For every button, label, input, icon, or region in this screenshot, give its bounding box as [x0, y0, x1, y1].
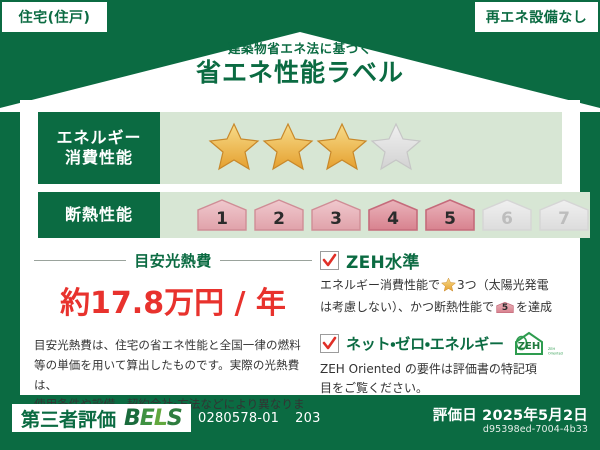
document-hash: d95398ed-7004-4b33 [483, 424, 588, 435]
bels-wordmark: BELS [124, 406, 182, 431]
insulation-level-number: 6 [481, 209, 533, 229]
svg-text:ZEH: ZEH [518, 341, 540, 352]
insulation-level-number: 5 [424, 209, 476, 229]
insulation-level-2: 2 [253, 198, 305, 232]
label-lower-section: 目安光熱費 約17.8万円 / 年 目安光熱費は、住宅の省エネ性能と全国一律の燃… [20, 248, 580, 388]
criteria-zeh-standard-desc: エネルギー消費性能で3つ（太陽光発電 は考慮しない）、かつ断熱性能で5を達成 [320, 276, 572, 318]
unit-number: 203 [295, 411, 320, 426]
utility-cost-section: 目安光熱費 約17.8万円 / 年 目安光熱費は、住宅の省エネ性能と全国一律の燃… [20, 248, 320, 388]
criteria-net-zero-energy: ネット・ゼロ・エネルギー ZEH ZEH Oriented [320, 331, 580, 357]
energy-performance-row: エネルギー 消費性能 [38, 112, 562, 184]
star-icon-2 [262, 121, 314, 175]
utility-cost-value: 約17.8万円 / 年 [34, 278, 312, 322]
star-icon-4-off [370, 121, 422, 175]
criteria-net-zero-energy-title: ネット・ゼロ・エネルギー [346, 333, 504, 354]
insulation-performance-row: 断熱性能 1 2 3 [38, 192, 562, 238]
badge-renewable-energy: 再エネ設備なし [475, 2, 598, 32]
utility-cost-heading: 目安光熱費 [34, 250, 312, 271]
criteria-net-zero-energy-desc: ZEH Oriented の要件は評価書の特記項 目をご覧ください。 [320, 360, 572, 399]
criteria-desc-pre: エネルギー消費性能で [320, 278, 440, 292]
label-main-panel: エネルギー 消費性能 [20, 100, 580, 395]
energy-performance-value [160, 112, 562, 184]
label-header-roof: 住宅(住戸) 再エネ設備なし 建築物省エネ法に基づく 省エネ性能ラベル [0, 0, 600, 112]
evaluation-date-value: 2025年5月2日 [482, 408, 588, 424]
svg-text:ZEH: ZEH [548, 347, 555, 351]
insulation-level-5: 5 [424, 198, 476, 232]
criteria-section: ZEH水準 エネルギー消費性能で3つ（太陽光発電 は考慮しない）、かつ断熱性能で… [320, 248, 580, 388]
criteria-desc-mid: 3つ（太陽光発電 [457, 278, 549, 292]
insulation-level-number: 2 [253, 209, 305, 229]
checkbox-checked-icon [320, 251, 339, 270]
checkbox-checked-icon [320, 334, 339, 353]
insulation-level-3: 3 [310, 198, 362, 232]
insulation-level-number: 1 [196, 209, 248, 229]
criteria-net-zero-desc-line2: 目をご覧ください。 [320, 379, 572, 398]
insulation-level-scale: 1 2 3 4 [196, 198, 590, 232]
third-party-evaluation-text: 第三者評価 [21, 405, 116, 432]
insulation-level-number: 4 [367, 209, 419, 229]
insulation-level-number: 3 [310, 209, 362, 229]
criteria-desc-line2-pre: は考慮しない）、かつ断熱性能で [320, 300, 494, 314]
criteria-zeh-standard-title: ZEH水準 [346, 248, 420, 273]
insulation-level-7: 7 [538, 198, 590, 232]
energy-performance-label: 住宅(住戸) 再エネ設備なし 建築物省エネ法に基づく 省エネ性能ラベル エネルギ… [0, 0, 600, 450]
heading-rule-left [34, 260, 126, 261]
evaluation-date-label: 評価日 [433, 408, 477, 424]
label-footer: 第三者評価 BELS 0280578-01203 評価日 2025年5月2日 d… [0, 398, 600, 450]
criteria-net-zero-desc-line1: ZEH Oriented の要件は評価書の特記項 [320, 360, 572, 379]
star-icon-1 [208, 121, 260, 175]
energy-label-line1: エネルギー [56, 128, 141, 148]
house-icon-inline-number: 5 [496, 301, 514, 316]
house-icon-inline: 5 [496, 300, 514, 315]
utility-cost-heading-text: 目安光熱費 [134, 250, 212, 271]
insulation-level-6: 6 [481, 198, 533, 232]
criteria-zeh-standard: ZEH水準 [320, 248, 580, 273]
svg-text:Oriented: Oriented [548, 351, 563, 355]
criteria-desc-line2-post: を達成 [516, 300, 552, 314]
insulation-performance-value: 1 2 3 4 [160, 192, 590, 238]
evaluation-date: 評価日 2025年5月2日 [433, 404, 588, 425]
zeh-oriented-logo-icon: ZEH ZEH Oriented [512, 331, 564, 357]
insulation-performance-label: 断熱性能 [38, 192, 160, 238]
utility-cost-note-line1: 目安光熱費は、住宅の省エネ性能と全国一律の燃料 [34, 336, 319, 356]
label-title: 省エネ性能ラベル [0, 53, 600, 89]
heading-rule-right [220, 260, 312, 261]
star-icon-inline [441, 277, 456, 298]
energy-label-line2: 消費性能 [65, 148, 133, 168]
star-rating [208, 121, 422, 175]
bels-logo: 第三者評価 BELS [12, 404, 191, 432]
registration-number-group: 0280578-01203 [198, 411, 321, 426]
star-icon-3 [316, 121, 368, 175]
insulation-level-number: 7 [538, 209, 590, 229]
utility-cost-note-line2: 等の単価を用いて算出したものです。実際の光熱費は、 [34, 356, 319, 396]
registration-number: 0280578-01 [198, 411, 279, 426]
insulation-level-4: 4 [367, 198, 419, 232]
energy-performance-label: エネルギー 消費性能 [38, 112, 160, 184]
badge-building-type: 住宅(住戸) [2, 2, 107, 32]
insulation-level-1: 1 [196, 198, 248, 232]
insulation-label-text: 断熱性能 [65, 205, 133, 225]
